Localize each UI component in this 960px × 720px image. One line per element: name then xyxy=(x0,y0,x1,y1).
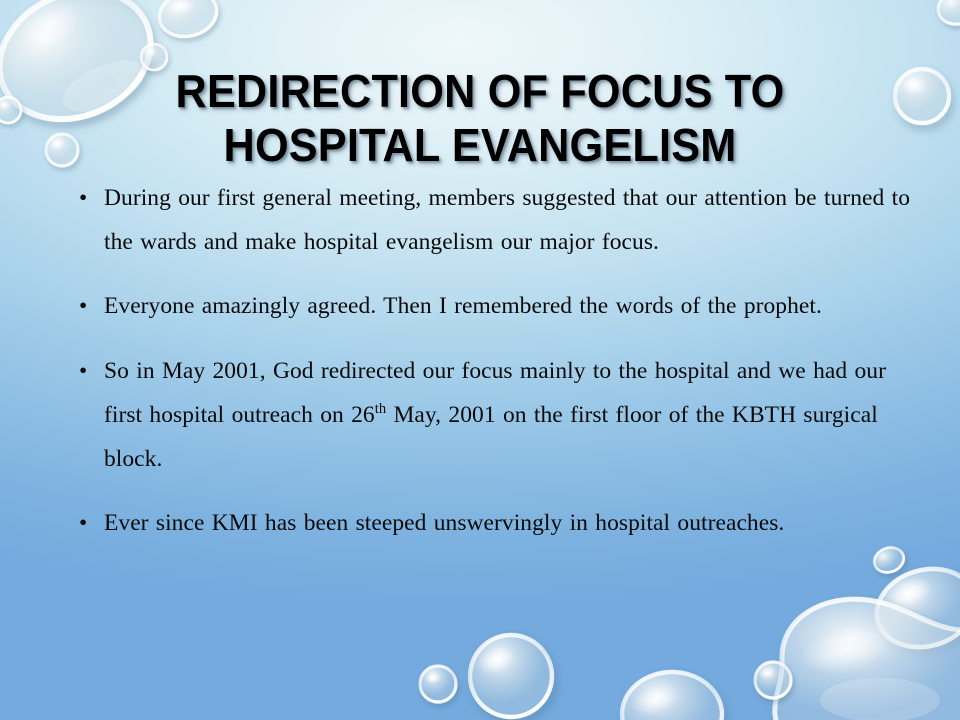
droplet-bottom-right-oval xyxy=(867,558,960,659)
list-item: • Ever since KMI has been steeped unswer… xyxy=(72,501,920,545)
droplet-upper-left-dot xyxy=(46,134,78,166)
slide-title: REDIRECTION OF FOCUS TO HOSPITAL EVANGEL… xyxy=(113,65,846,173)
droplet-bottom-right-low xyxy=(622,672,722,720)
slide-canvas: REDIRECTION OF FOCUS TO HOSPITAL EVANGEL… xyxy=(0,0,960,720)
droplet-right-edge-small xyxy=(935,0,960,28)
list-item: • So in May 2001, God redirected our foc… xyxy=(72,349,920,482)
droplet-bottom-mid-large xyxy=(470,635,552,717)
droplet-top-left-small xyxy=(0,97,21,123)
droplet-right-upper xyxy=(895,69,949,123)
droplet-top-right-medium xyxy=(155,0,222,42)
bullet-text: During our first general meeting, member… xyxy=(104,185,910,255)
bullet-text: Ever since KMI has been steeped unswervi… xyxy=(104,510,784,536)
droplet-bottom-right-blob xyxy=(775,599,960,720)
list-item: • Everyone amazingly agreed. Then I reme… xyxy=(72,284,920,328)
droplet-bottom-mid-small xyxy=(420,666,456,702)
bullet-marker: • xyxy=(79,284,87,328)
bullet-text: Everyone amazingly agreed. Then I rememb… xyxy=(104,293,822,319)
list-item: • During our first general meeting, memb… xyxy=(72,176,920,264)
bullet-marker: • xyxy=(79,176,87,220)
bullet-marker: • xyxy=(79,349,87,393)
droplet-right-mid-tiny xyxy=(871,544,907,577)
droplet-far-left-bottom xyxy=(755,662,791,698)
bullet-marker: • xyxy=(79,501,87,545)
slide-body: • During our first general meeting, memb… xyxy=(72,176,920,545)
ordinal-superscript: th xyxy=(375,401,386,417)
